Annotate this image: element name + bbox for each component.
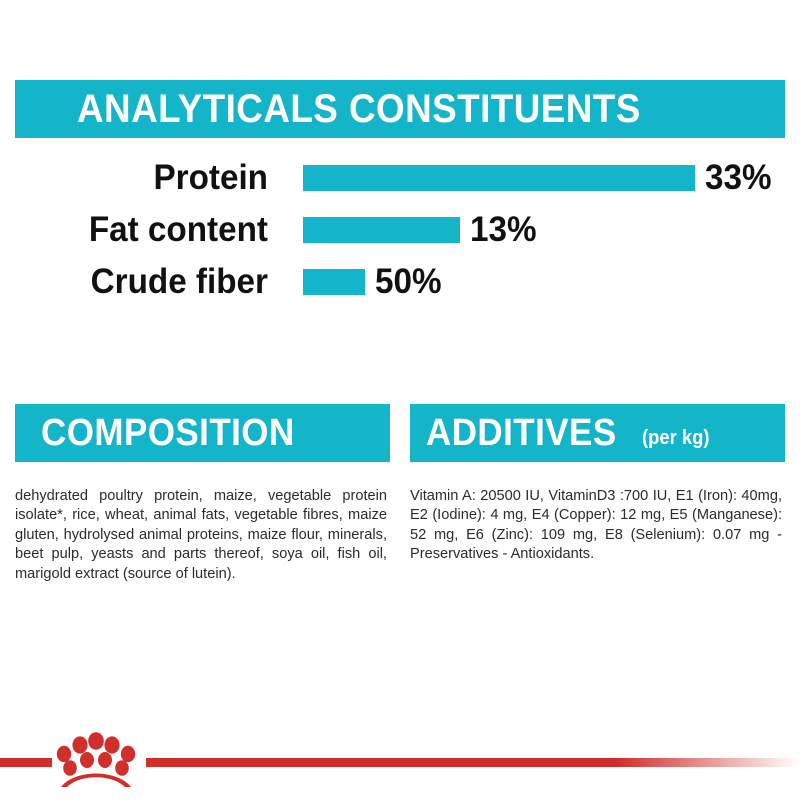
bar-fill-protein bbox=[303, 165, 695, 191]
composition-header-band: COMPOSITION bbox=[15, 404, 390, 462]
additives-body-text: Vitamin A: 20500 IU, VitaminD3 :700 IU, … bbox=[410, 487, 782, 565]
product-info-panel: ANALYTICALS CONSTITUENTS Protein 33% Fat… bbox=[0, 0, 800, 800]
bar-value-fat-content: 13% bbox=[470, 210, 537, 250]
royal-canin-crown-icon bbox=[55, 727, 137, 789]
bar-label-crude-fiber: Crude fiber bbox=[13, 262, 268, 302]
brand-rule-left bbox=[0, 758, 52, 767]
brand-rule-right bbox=[146, 758, 800, 767]
additives-subtitle: (per kg) bbox=[642, 428, 709, 448]
bar-value-protein: 33% bbox=[705, 158, 772, 198]
bar-protein bbox=[303, 165, 695, 191]
table-row: Protein 33% bbox=[0, 158, 800, 198]
bar-crude-fiber bbox=[303, 269, 365, 295]
analyticals-bar-chart: Protein 33% Fat content 13% Crude fiber … bbox=[0, 158, 800, 313]
bar-label-protein: Protein bbox=[13, 158, 268, 198]
analyticals-title: ANALYTICALS CONSTITUENTS bbox=[77, 89, 641, 129]
bar-value-crude-fiber: 50% bbox=[375, 262, 442, 302]
additives-header-band: ADDITIVES (per kg) bbox=[410, 404, 785, 462]
composition-title: COMPOSITION bbox=[41, 414, 295, 452]
additives-title: ADDITIVES bbox=[426, 414, 617, 452]
bar-fill-fat-content bbox=[303, 217, 460, 243]
table-row: Fat content 13% bbox=[0, 210, 800, 250]
bar-fat-content bbox=[303, 217, 460, 243]
analyticals-header-band: ANALYTICALS CONSTITUENTS bbox=[15, 80, 785, 138]
table-row: Crude fiber 50% bbox=[0, 262, 800, 302]
bar-fill-crude-fiber bbox=[303, 269, 365, 295]
composition-body-text: dehydrated poultry protein, maize, veget… bbox=[15, 487, 387, 585]
brand-footer bbox=[0, 745, 800, 800]
bar-label-fat-content: Fat content bbox=[13, 210, 268, 250]
